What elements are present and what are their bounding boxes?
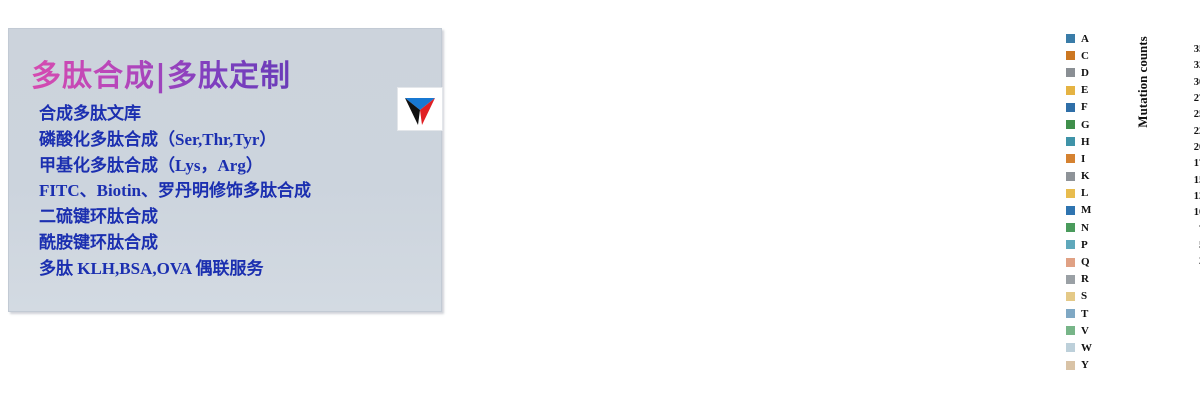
legend-item[interactable]: L — [1066, 185, 1126, 202]
service-list: 合成多肽文库 磷酸化多肽合成（Ser,Thr,Tyr） 甲基化多肽合成（Lys，… — [39, 101, 429, 282]
legend-swatch-icon — [1066, 137, 1075, 146]
legend-label: R — [1081, 273, 1089, 285]
legend-swatch-icon — [1066, 240, 1075, 249]
legend-swatch-icon — [1066, 172, 1075, 181]
legend-swatch-icon — [1066, 189, 1075, 198]
peptide-service-panel: 多肽合成|多肽定制 合成多肽文库 磷酸化多肽合成（Ser,Thr,Tyr） 甲基… — [8, 28, 442, 312]
legend-swatch-icon — [1066, 68, 1075, 77]
list-item: 酰胺键环肽合成 — [39, 230, 429, 256]
legend-label: M — [1081, 204, 1091, 216]
y-axis-title: Mutation counts — [1135, 12, 1151, 152]
legend-swatch-icon — [1066, 309, 1075, 318]
y-axis-tick: 32500 — [1194, 60, 1200, 71]
y-axis-tick: 30000 — [1194, 77, 1200, 88]
legend-label: V — [1081, 325, 1089, 337]
legend-label: F — [1081, 101, 1088, 113]
legend-swatch-icon — [1066, 103, 1075, 112]
legend-swatch-icon — [1066, 34, 1075, 43]
legend-swatch-icon — [1066, 51, 1075, 60]
legend-label: S — [1081, 290, 1087, 302]
legend-label: D — [1081, 67, 1089, 79]
legend-swatch-icon — [1066, 343, 1075, 352]
legend-label: Y — [1081, 359, 1089, 371]
legend-swatch-icon — [1066, 326, 1075, 335]
legend-item[interactable]: M — [1066, 202, 1126, 219]
legend-label: K — [1081, 170, 1090, 182]
y-axis-tick-labels: 3500032500300002750025000225002000017500… — [1164, 44, 1200, 284]
legend-item[interactable]: H — [1066, 133, 1126, 150]
legend-label: L — [1081, 187, 1088, 199]
legend-item[interactable]: C — [1066, 47, 1126, 64]
series-legend: ACDEFGHIKLMNPQRSTVWY — [1066, 30, 1126, 374]
legend-item[interactable]: R — [1066, 271, 1126, 288]
legend-label: N — [1081, 222, 1089, 234]
legend-item[interactable]: W — [1066, 339, 1126, 356]
y-axis-tick: 20000 — [1194, 142, 1200, 153]
legend-label: H — [1081, 136, 1090, 148]
legend-label: E — [1081, 84, 1088, 96]
list-item: 二硫键环肽合成 — [39, 204, 429, 230]
list-item: 合成多肽文库 — [39, 101, 429, 127]
legend-label: G — [1081, 119, 1090, 131]
legend-item[interactable]: Q — [1066, 253, 1126, 270]
legend-swatch-icon — [1066, 206, 1075, 215]
y-axis-tick: 27500 — [1194, 93, 1200, 104]
y-axis-tick: 35000 — [1194, 44, 1200, 55]
legend-swatch-icon — [1066, 223, 1075, 232]
legend-item[interactable]: N — [1066, 219, 1126, 236]
y-axis-tick: 22500 — [1194, 126, 1200, 137]
legend-swatch-icon — [1066, 361, 1075, 370]
legend-label: Q — [1081, 256, 1090, 268]
y-axis-tick: 17500 — [1194, 158, 1200, 169]
legend-label: W — [1081, 342, 1092, 354]
legend-label: P — [1081, 239, 1088, 251]
list-item: 多肽 KLH,BSA,OVA 偶联服务 — [39, 256, 429, 282]
legend-swatch-icon — [1066, 154, 1075, 163]
legend-item[interactable]: G — [1066, 116, 1126, 133]
legend-item[interactable]: S — [1066, 288, 1126, 305]
y-axis-tick: 10000 — [1194, 207, 1200, 218]
legend-swatch-icon — [1066, 86, 1075, 95]
legend-label: T — [1081, 308, 1088, 320]
list-item: 甲基化多肽合成（Lys，Arg） — [39, 153, 429, 179]
list-item: FITC、Biotin、罗丹明修饰多肽合成 — [39, 178, 429, 204]
list-item: 磷酸化多肽合成（Ser,Thr,Tyr） — [39, 127, 429, 153]
legend-item[interactable]: F — [1066, 99, 1126, 116]
legend-item[interactable]: A — [1066, 30, 1126, 47]
legend-item[interactable]: T — [1066, 305, 1126, 322]
y-axis-tick: 25000 — [1194, 109, 1200, 120]
y-axis-tick: 12500 — [1194, 191, 1200, 202]
legend-swatch-icon — [1066, 275, 1075, 284]
legend-item[interactable]: K — [1066, 168, 1126, 185]
legend-label: I — [1081, 153, 1085, 165]
legend-item[interactable]: P — [1066, 236, 1126, 253]
legend-item[interactable]: V — [1066, 322, 1126, 339]
legend-swatch-icon — [1066, 120, 1075, 129]
legend-item[interactable]: D — [1066, 64, 1126, 81]
legend-swatch-icon — [1066, 292, 1075, 301]
y-axis-tick: 15000 — [1194, 175, 1200, 186]
legend-item[interactable]: I — [1066, 150, 1126, 167]
panel-title: 多肽合成|多肽定制 — [31, 51, 291, 95]
legend-label: A — [1081, 33, 1089, 45]
legend-item[interactable]: E — [1066, 82, 1126, 99]
legend-item[interactable]: Y — [1066, 357, 1126, 374]
screenshot-root: 多肽合成|多肽定制 合成多肽文库 磷酸化多肽合成（Ser,Thr,Tyr） 甲基… — [0, 0, 1200, 400]
legend-swatch-icon — [1066, 258, 1075, 267]
legend-label: C — [1081, 50, 1089, 62]
